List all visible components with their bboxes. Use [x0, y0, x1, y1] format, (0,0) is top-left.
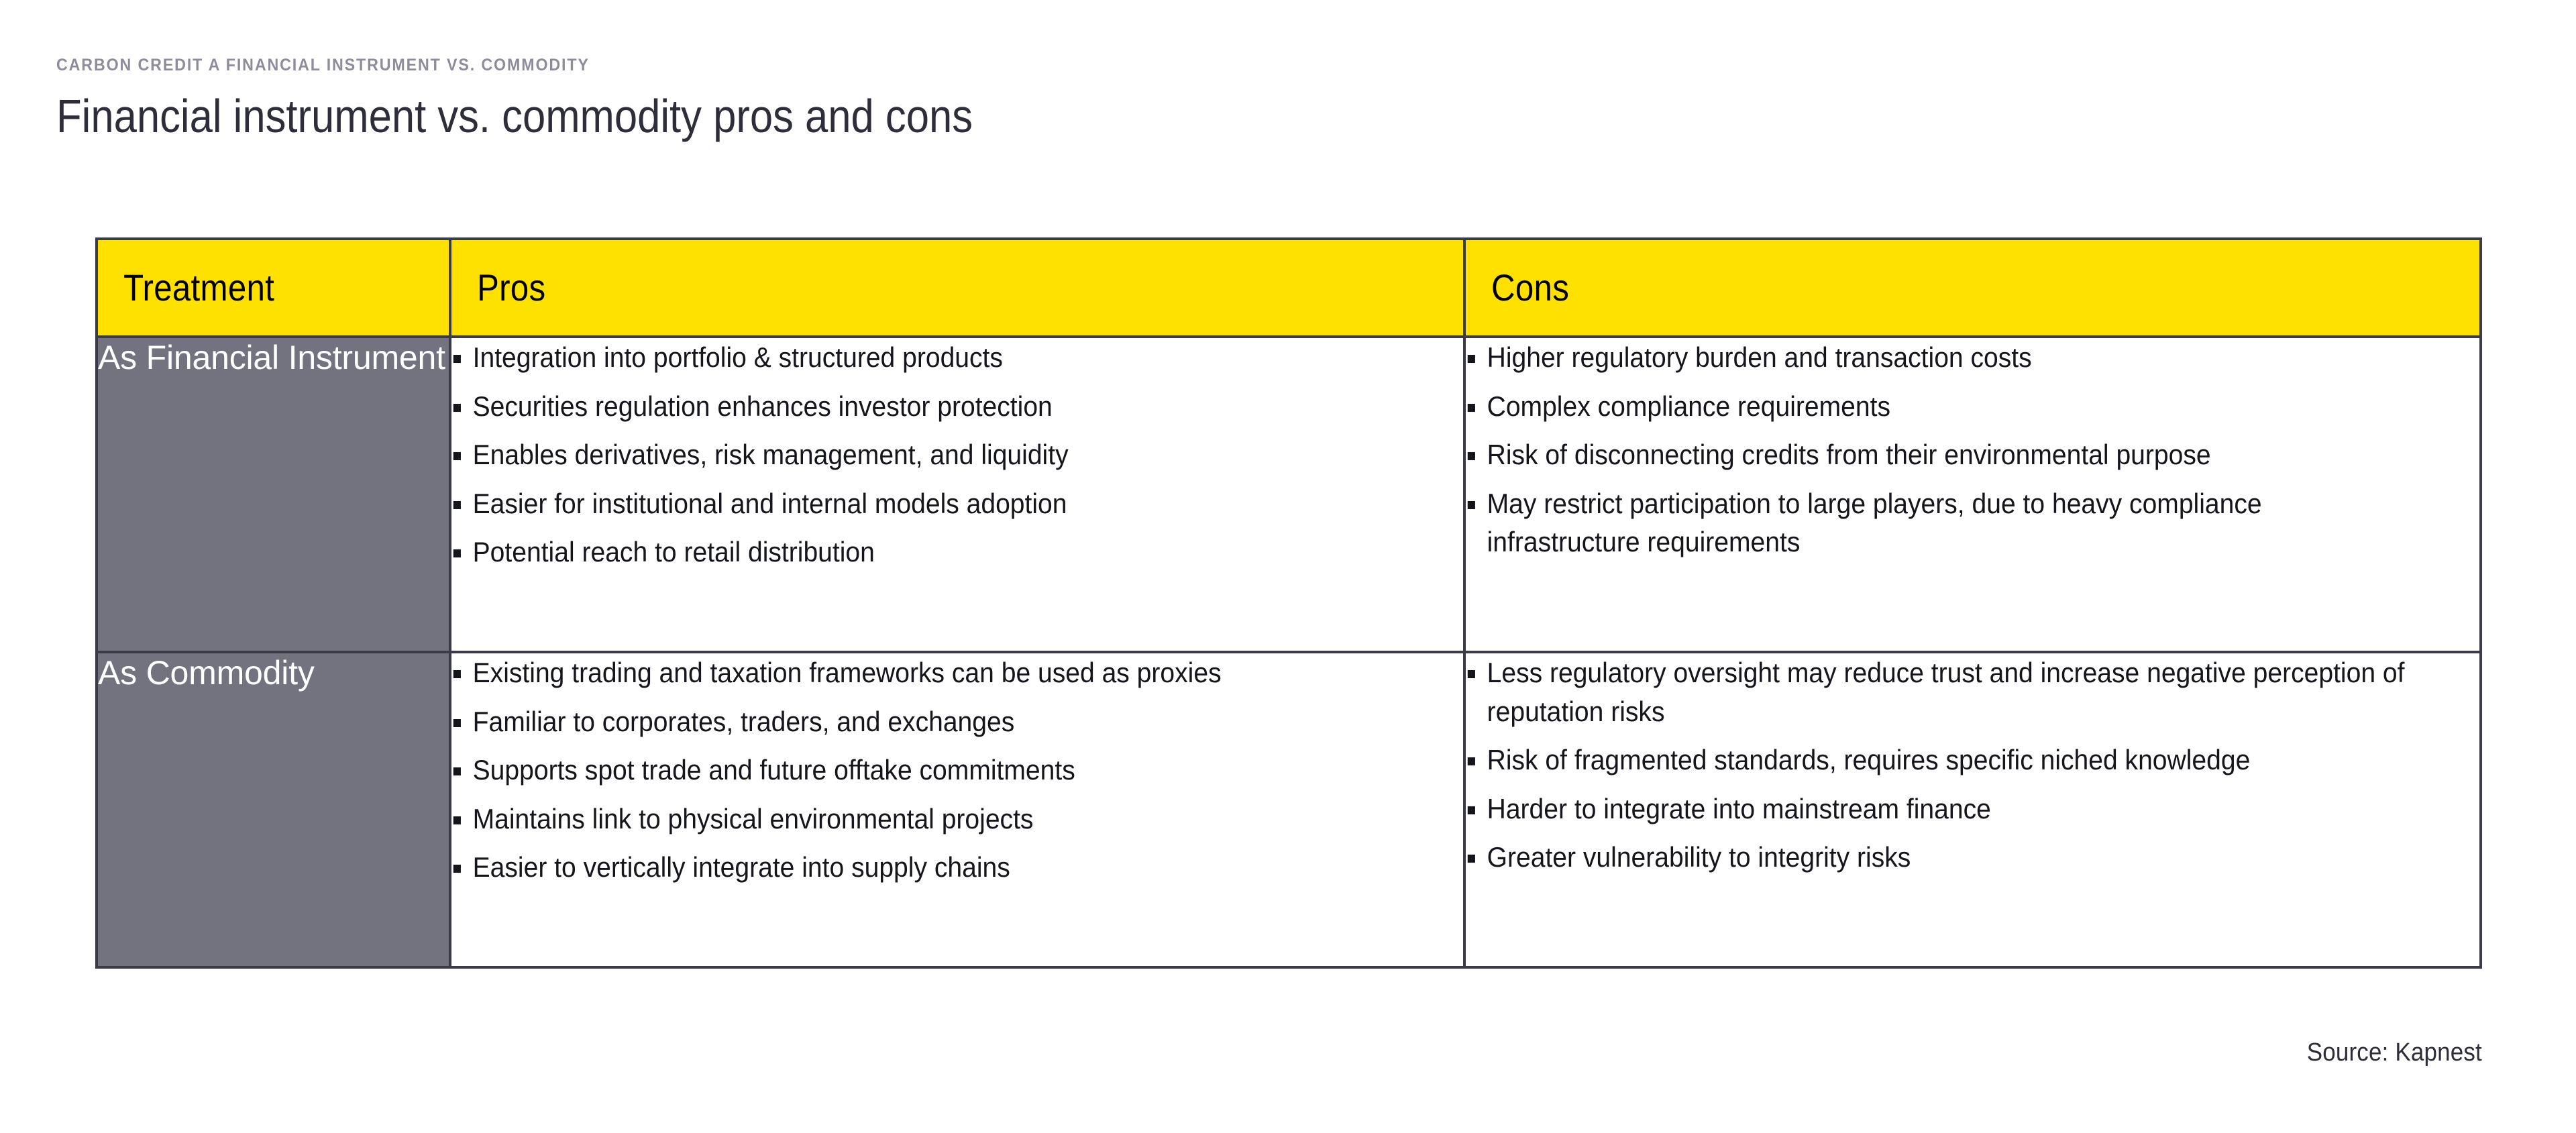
cons-list: Higher regulatory burden and transaction…: [1466, 338, 2479, 561]
source-note: Source: Kapnest: [2307, 1038, 2482, 1067]
row-label-text: As Financial Instrument: [98, 338, 449, 378]
cell-pros-as-commodity: Existing trading and taxation frameworks…: [450, 652, 1464, 967]
column-header-pros-label: Pros: [477, 269, 545, 307]
list-item: Harder to integrate into mainstream fina…: [1466, 790, 2408, 828]
list-item: Securities regulation enhances investor …: [451, 387, 1392, 426]
list-item: Less regulatory oversight may reduce tru…: [1466, 653, 2408, 731]
cell-pros-as-financial-instrument: Integration into portfolio & structured …: [450, 337, 1464, 652]
page-header: CARBON CREDIT A FINANCIAL INSTRUMENT VS.…: [56, 56, 2203, 142]
list-item: Higher regulatory burden and transaction…: [1466, 338, 2408, 377]
list-item: Integration into portfolio & structured …: [451, 338, 1392, 377]
row-label-text: As Commodity: [98, 653, 449, 693]
cons-list: Less regulatory oversight may reduce tru…: [1466, 653, 2479, 877]
list-item: Risk of fragmented standards, requires s…: [1466, 741, 2408, 779]
list-item: Familiar to corporates, traders, and exc…: [451, 702, 1392, 741]
page-title: Financial instrument vs. commodity pros …: [56, 90, 1945, 142]
column-header-cons-label: Cons: [1491, 269, 1569, 307]
cell-cons-as-commodity: Less regulatory oversight may reduce tru…: [1464, 652, 2481, 967]
column-header-treatment: Treatment: [97, 239, 450, 337]
pros-cons-table: Treatment Pros Cons As Financial Instrum…: [95, 237, 2482, 969]
eyebrow-label: CARBON CREDIT A FINANCIAL INSTRUMENT VS.…: [56, 56, 2053, 75]
table-row: As Financial Instrument Integration into…: [97, 337, 2481, 652]
list-item: Easier to vertically integrate into supp…: [451, 848, 1392, 887]
table-header-row: Treatment Pros Cons: [97, 239, 2481, 337]
list-item: Easier for institutional and internal mo…: [451, 484, 1392, 523]
list-item: Enables derivatives, risk management, an…: [451, 435, 1392, 474]
column-header-pros: Pros: [450, 239, 1464, 337]
list-item: May restrict participation to large play…: [1466, 484, 2408, 561]
list-item: Existing trading and taxation frameworks…: [451, 653, 1392, 692]
column-header-treatment-label: Treatment: [123, 269, 274, 307]
list-item: Maintains link to physical environmental…: [451, 800, 1392, 839]
cell-cons-as-financial-instrument: Higher regulatory burden and transaction…: [1464, 337, 2481, 652]
list-item: Supports spot trade and future offtake c…: [451, 751, 1392, 790]
list-item: Potential reach to retail distribution: [451, 533, 1392, 572]
table-body: As Financial Instrument Integration into…: [97, 337, 2481, 967]
pros-list: Integration into portfolio & structured …: [451, 338, 1463, 572]
pros-list: Existing trading and taxation frameworks…: [451, 653, 1463, 887]
list-item: Complex compliance requirements: [1466, 387, 2408, 426]
list-item: Risk of disconnecting credits from their…: [1466, 435, 2408, 474]
row-label-as-financial-instrument: As Financial Instrument: [97, 337, 450, 652]
table-row: As Commodity Existing trading and taxati…: [97, 652, 2481, 967]
column-header-cons: Cons: [1464, 239, 2481, 337]
row-label-as-commodity: As Commodity: [97, 652, 450, 967]
list-item: Greater vulnerability to integrity risks: [1466, 838, 2408, 877]
